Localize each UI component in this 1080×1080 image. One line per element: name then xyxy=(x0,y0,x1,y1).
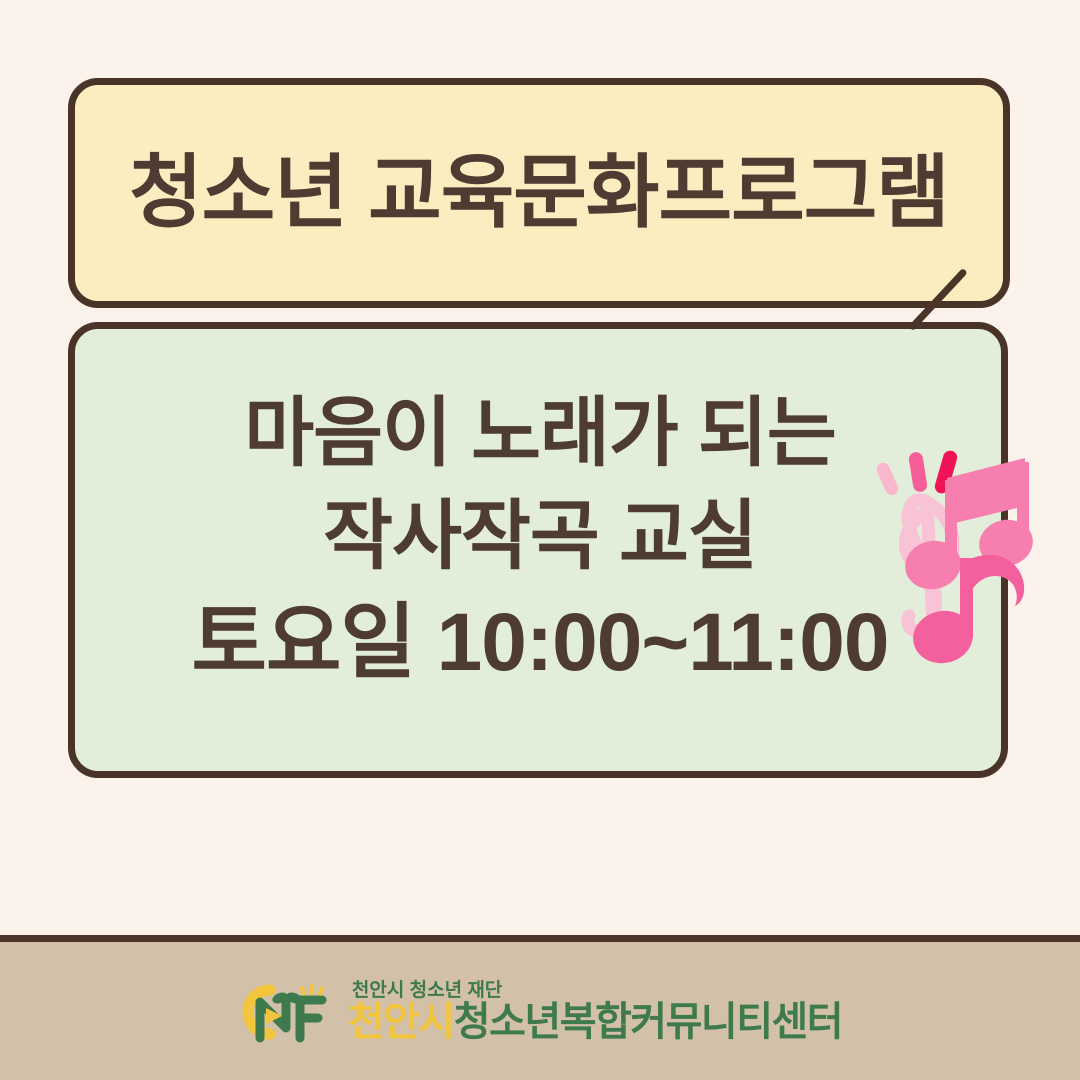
cnf-logo-icon xyxy=(230,978,334,1044)
center-name: 천안시청소년복합커뮤니티센터 xyxy=(348,1002,842,1042)
program-title: 작사작곡 교실 xyxy=(323,494,757,579)
poster-canvas: 청소년 교육문화프로그램 마음이 노래가 되는 작사작곡 교실 토요일 10:0… xyxy=(0,0,1080,1080)
center-name-city: 천안시 xyxy=(348,1000,454,1044)
footer-branding: 천안시 청소년 재단 천안시청소년복합커뮤니티센터 xyxy=(230,978,842,1044)
footer-band: 천안시 청소년 재단 천안시청소년복합커뮤니티센터 xyxy=(0,942,1080,1080)
main-content-lines: 마음이 노래가 되는 작사작곡 교실 토요일 10:00~11:00 xyxy=(0,0,1080,1080)
footer-text-block: 천안시 청소년 재단 천안시청소년복합커뮤니티센터 xyxy=(348,981,842,1042)
program-tagline: 마음이 노래가 되는 xyxy=(244,391,836,476)
footer-divider xyxy=(0,935,1080,942)
foundation-name: 천안시 청소년 재단 xyxy=(352,981,842,1000)
center-name-rest: 청소년복합커뮤니티센터 xyxy=(454,1000,842,1044)
program-schedule: 토요일 10:00~11:00 xyxy=(192,597,889,689)
